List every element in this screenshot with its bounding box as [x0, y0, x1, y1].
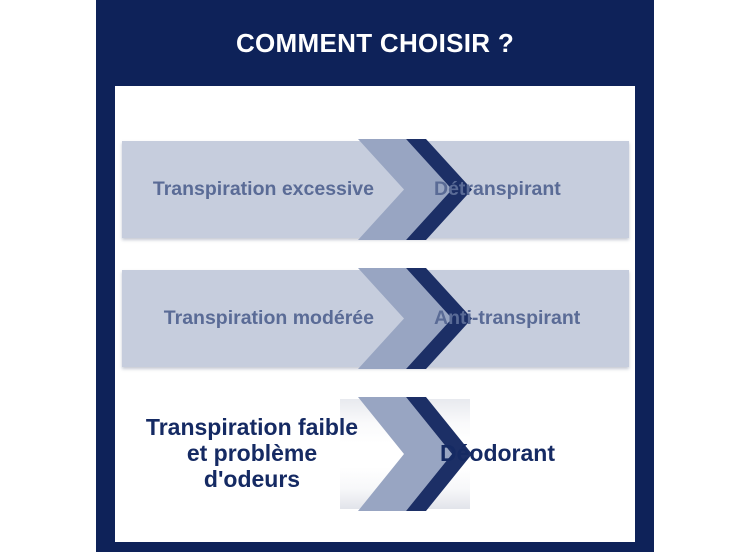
- row-1-left-text: Transpiration excessive: [153, 178, 374, 201]
- row-1-left-label: Transpiration excessive: [122, 141, 380, 238]
- row-3-left-text: Transpiration faibleet problèmed'odeurs: [146, 415, 358, 492]
- page-title: COMMENT CHOISIR ?: [96, 0, 654, 86]
- page-title-text: COMMENT CHOISIR ?: [236, 28, 514, 59]
- comparison-row-3: Transpiration faibleet problèmed'odeurs …: [122, 399, 629, 509]
- row-1-right-text: Détranspirant: [434, 178, 561, 201]
- content-card: Transpiration excessive Détranspirant Tr…: [115, 86, 635, 542]
- row-3-right-text: Déodorant: [440, 441, 555, 467]
- infographic-panel: COMMENT CHOISIR ? Transpiration excessiv…: [96, 0, 654, 552]
- comparison-row-1: Transpiration excessive Détranspirant: [122, 141, 629, 238]
- row-3-left-label: Transpiration faibleet problèmed'odeurs: [122, 399, 374, 509]
- row-2-left-label: Transpiration modérée: [122, 270, 380, 367]
- row-2-right-label: Anti-transpirant: [422, 270, 629, 367]
- row-2-right-text: Anti-transpirant: [434, 307, 580, 330]
- row-3-right-label: Déodorant: [418, 399, 625, 509]
- row-2-left-text: Transpiration modérée: [164, 307, 374, 330]
- row-1-right-label: Détranspirant: [422, 141, 629, 238]
- comparison-row-2: Transpiration modérée Anti-transpirant: [122, 270, 629, 367]
